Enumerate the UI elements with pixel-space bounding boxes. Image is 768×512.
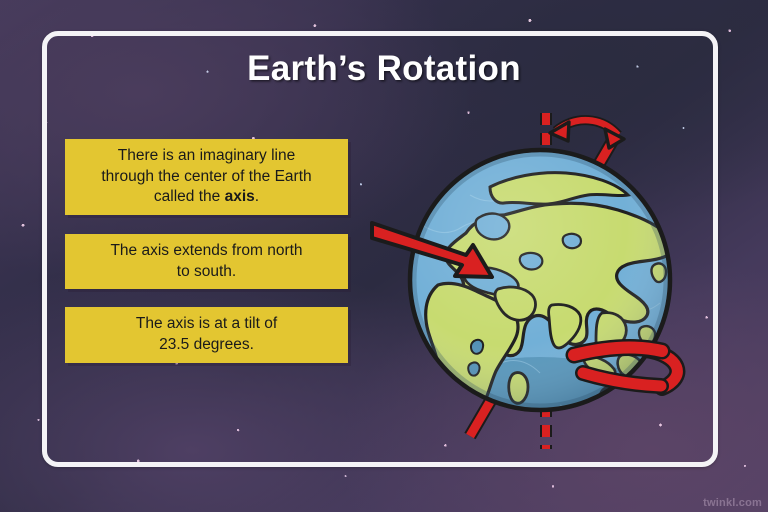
fact-box-axis-tilt: The axis is at a tilt of 23.5 degrees. xyxy=(65,307,348,363)
fact-box-axis-extent: The axis extends from north to south. xyxy=(65,234,348,289)
fact-keyword-axis: axis xyxy=(225,188,255,205)
fact-line: The axis is at a tilt of xyxy=(136,315,277,332)
tilted-earth-rotation-diagram xyxy=(370,105,715,455)
fact-line: There is an imaginary line xyxy=(118,147,295,164)
fact-box-axis-definition: There is an imaginary line through the c… xyxy=(65,139,348,215)
fact-line: . xyxy=(255,188,259,205)
fact-line: through the center of the Earth xyxy=(101,168,311,185)
slide-root: Earth’s Rotation There is an imaginary l… xyxy=(0,0,768,512)
fact-line: to south. xyxy=(177,263,236,280)
fact-line: called the xyxy=(154,188,225,205)
earth-globe xyxy=(390,150,690,455)
tilt-angle-arc-arrow-icon xyxy=(550,120,624,148)
watermark: twinkl.com xyxy=(703,497,762,509)
fact-line: 23.5 degrees. xyxy=(159,336,254,353)
page-title: Earth’s Rotation xyxy=(0,49,768,89)
fact-line: The axis extends from north xyxy=(110,242,302,259)
